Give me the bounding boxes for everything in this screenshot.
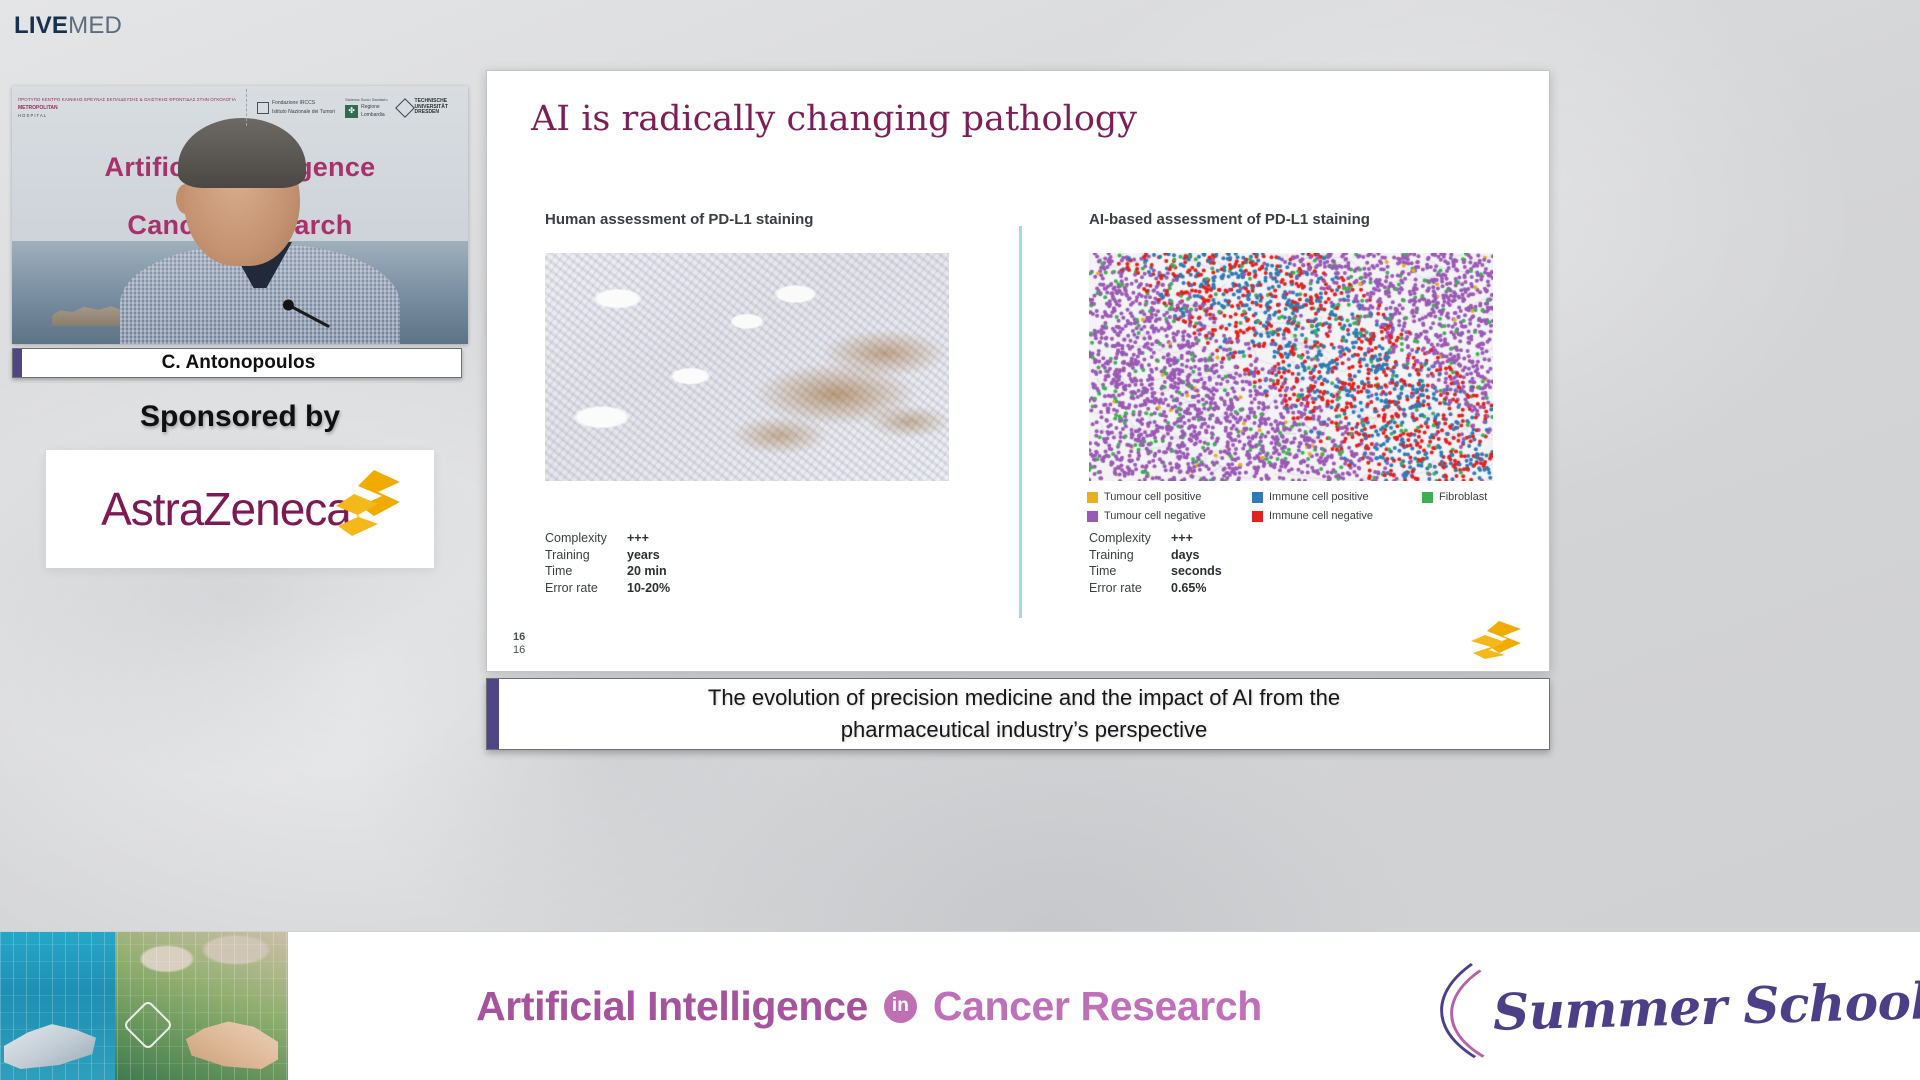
stats-value: 10-20% [627,580,670,597]
stats-table-ai: Complexity +++ Training days Time second… [1089,530,1222,597]
stats-key: Error rate [1089,580,1171,597]
backdrop-sponsor-logos: ΠΡΟΤΥΠΟ ΚΕΝΤΡΟ ΚΛΙΝΙΚΗΣ ΕΡΕΥΝΑΣ ΕΚΠΑΙΔΕΥ… [12,86,468,126]
summer-school-logo: Summer School [1450,932,1920,1080]
stats-row: Error rate 10-20% [545,580,670,597]
logo-tu-dresden: TECHNISCHE UNIVERSITÄT DRESDEN [398,99,448,116]
event-title-in-badge: in [884,990,917,1023]
ai-legend: Tumour cell positive Immune cell positiv… [1087,491,1507,529]
logo-irccs: Fondazione IRCCS Istituto Nazionale dei … [257,100,335,115]
event-title: Artificial Intelligence in Cancer Resear… [288,983,1450,1030]
column-heading-ai: AI-based assessment of PD-L1 staining [1089,211,1370,228]
page-number-current: 16 [513,631,525,644]
logo-divider [246,89,247,126]
legend-item-tumour-cell-positive: Tumour cell positive [1087,491,1252,503]
column-heading-human: Human assessment of PD-L1 staining [545,211,813,228]
stats-table-human: Complexity +++ Training years Time 20 mi… [545,530,670,597]
slide-page-numbers: 16 16 [513,631,525,657]
astrazeneca-corner-logo-icon [1469,619,1523,659]
stats-value: days [1171,547,1200,564]
legend-row: Tumour cell positive Immune cell positiv… [1087,491,1507,503]
ai-cell-overlay-canvas [1089,253,1493,481]
presentation-slide[interactable]: AI is radically changing pathology Human… [486,70,1550,672]
stats-key: Training [1089,547,1171,564]
stats-key: Time [1089,563,1171,580]
speaker-figure [142,118,372,344]
legend-item-immune-cell-positive: Immune cell positive [1252,491,1422,503]
astrazeneca-swoosh-icon [330,466,404,540]
legend-row: Tumour cell negative Immune cell negativ… [1087,510,1507,522]
human-pathology-image [545,253,949,481]
stats-value: 20 min [627,563,667,580]
legend-swatch-tumour-positive [1087,492,1098,503]
astrazeneca-wordmark: AstraZeneca [101,482,351,536]
sponsor-logo-astrazeneca[interactable]: AstraZeneca [46,450,434,568]
caption-line1: The evolution of precision medicine and … [708,685,1340,710]
sponsor-block: Sponsored by AstraZeneca [12,400,468,568]
caption-text: The evolution of precision medicine and … [499,682,1549,746]
slide-title: AI is radically changing pathology [531,99,1137,139]
stats-row: Complexity +++ [1089,530,1222,547]
caption-accent-bar [487,679,499,749]
speaker-name-plate: C. Antonopoulos [12,348,462,378]
speaker-name: C. Antonopoulos [22,352,461,374]
stats-value: seconds [1171,563,1222,580]
summer-school-text: Summer School [1492,971,1920,1041]
metropolitan-sub-text: H O S P I T A L [18,113,236,118]
legend-label-immune-negative: Immune cell negative [1269,510,1373,522]
stats-key: Time [545,563,627,580]
irccs-mark-icon [257,102,269,114]
stats-row: Training days [1089,547,1222,564]
stats-value: 0.65% [1171,580,1206,597]
stats-value: +++ [1171,530,1193,547]
tud-mark-icon [395,98,415,118]
name-plate-accent-bar [13,349,22,377]
talk-title-caption: The evolution of precision medicine and … [486,678,1550,750]
stats-row: Training years [545,547,670,564]
legend-item-fibroblast: Fibroblast [1422,491,1487,503]
legend-item-tumour-cell-negative: Tumour cell negative [1087,510,1252,522]
legend-swatch-fibroblast [1422,492,1433,503]
regione-line1: Regione [361,104,385,110]
logo-regione-lombardia: Sistema Socio Sanitario ✤ Regione Lombar… [345,97,387,119]
stats-key: Complexity [1089,530,1171,547]
stats-value: years [627,547,660,564]
legend-swatch-immune-positive [1252,492,1263,503]
stats-value: +++ [627,530,649,547]
legend-item-immune-cell-negative: Immune cell negative [1252,510,1422,522]
logo-live-text: LIVE [14,12,68,39]
stats-row: Time 20 min [545,563,670,580]
legend-swatch-immune-negative [1252,511,1263,522]
stats-row: Error rate 0.65% [1089,580,1222,597]
livemed-logo: LIVEMED [14,14,122,38]
stats-row: Complexity +++ [545,530,670,547]
speaker-video-feed[interactable]: ΠΡΟΤΥΠΟ ΚΕΝΤΡΟ ΚΛΙΝΙΚΗΣ ΕΡΕΥΝΑΣ ΕΚΠΑΙΔΕΥ… [12,86,468,344]
tissue-voids [545,253,949,481]
legend-label-tumour-negative: Tumour cell negative [1104,510,1206,522]
speaker-hair [178,118,306,188]
stats-key: Training [545,547,627,564]
stats-key: Error rate [545,580,627,597]
legend-label-tumour-positive: Tumour cell positive [1104,491,1201,503]
irccs-line1: Fondazione IRCCS [272,100,335,106]
legend-label-fibroblast: Fibroblast [1439,491,1487,503]
speaker-panel: ΠΡΟΤΥΠΟ ΚΕΝΤΡΟ ΚΛΙΝΙΚΗΣ ΕΡΕΥΝΑΣ ΕΚΠΑΙΔΕΥ… [12,86,468,378]
logo-greek-oncology-center: ΠΡΟΤΥΠΟ ΚΕΝΤΡΟ ΚΛΙΝΙΚΗΣ ΕΡΕΥΝΑΣ ΕΚΠΑΙΔΕΥ… [18,97,236,118]
greek-center-text: ΠΡΟΤΥΠΟ ΚΕΝΤΡΟ ΚΛΙΝΙΚΗΣ ΕΡΕΥΝΑΣ ΕΚΠΑΙΔΕΥ… [18,97,236,103]
sponsored-by-label: Sponsored by [12,400,468,434]
regione-line2: Lombardia [361,112,385,118]
column-divider [1019,226,1022,618]
lombardia-mark-icon: ✤ [345,105,358,118]
metropolitan-hospital-text: METROPOLITAN [18,105,236,111]
event-title-part1: Artificial Intelligence [476,983,868,1030]
irccs-line2: Istituto Nazionale dei Tumori [272,109,335,115]
ai-pathology-image [1089,253,1493,481]
event-title-part2: Cancer Research [933,983,1262,1030]
sistema-socio-sanitario-text: Sistema Socio Sanitario [345,97,387,102]
legend-swatch-tumour-negative [1087,511,1098,522]
event-hero-image [0,932,288,1080]
caption-line2: pharmaceutical industry’s perspective [841,717,1207,742]
page-number-total: 16 [513,644,525,657]
logo-med-text: MED [68,12,122,39]
legend-label-immune-positive: Immune cell positive [1269,491,1369,503]
tud-line3: DRESDEN [415,109,439,115]
stats-row: Time seconds [1089,563,1222,580]
stats-key: Complexity [545,530,627,547]
event-branding-bar: Artificial Intelligence in Cancer Resear… [0,931,1920,1080]
